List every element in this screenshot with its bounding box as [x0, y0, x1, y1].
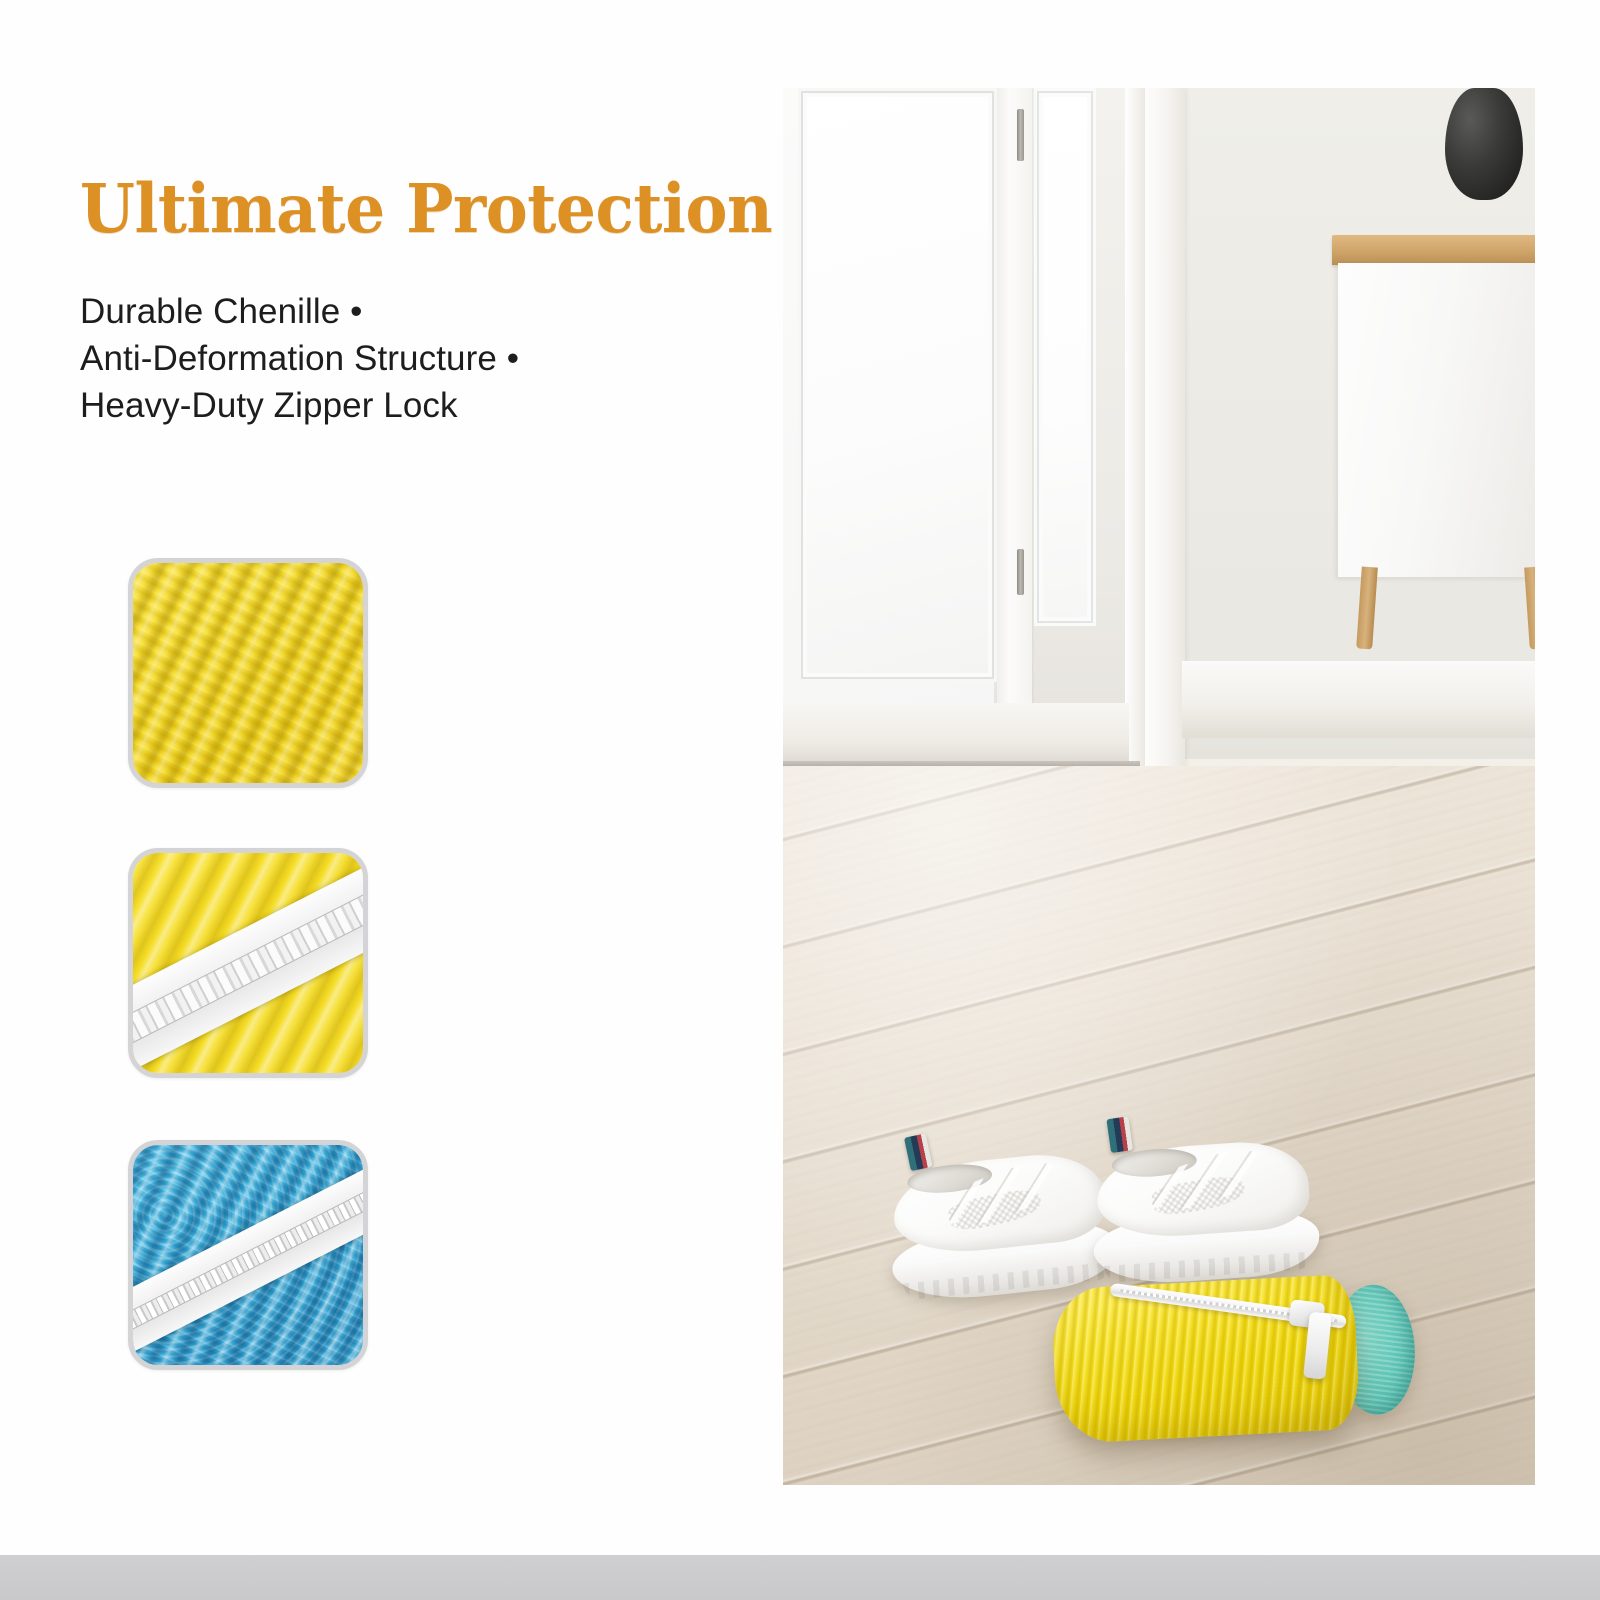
page-title: Ultimate Protection — [80, 175, 729, 242]
swatch-yellow-chenille-texture — [128, 558, 368, 788]
footer-band — [0, 1555, 1600, 1600]
baseboard — [1182, 661, 1535, 738]
swatch-yellow-chenille-zipper — [128, 848, 368, 1078]
feature-list: Durable Chenille • Anti-Deformation Stru… — [80, 288, 770, 429]
sneaker-upper — [1094, 1137, 1312, 1241]
frosted-glass-panel-narrow — [1034, 88, 1096, 626]
door-hinge-icon — [1017, 109, 1024, 161]
chenille-yellow-pattern — [133, 563, 363, 783]
cabinet-wood-top — [1332, 235, 1535, 266]
door-bottom-rail — [783, 703, 1129, 766]
swatch-image — [133, 1145, 363, 1365]
product-infographic: Ultimate Protection Durable Chenille • A… — [0, 0, 1600, 1600]
door-casing — [1145, 88, 1184, 793]
sneaker-heel-tab — [1106, 1116, 1133, 1153]
sideboard-cabinet — [1338, 263, 1535, 577]
door-hinge-icon — [1017, 549, 1024, 595]
frosted-glass-panel-large — [798, 88, 997, 682]
yellow-shoe-wash-bag — [1050, 1271, 1419, 1444]
copy-block: Ultimate Protection Durable Chenille • A… — [80, 175, 770, 429]
feature-item-1: Durable Chenille • — [80, 288, 770, 335]
swatch-image — [133, 563, 363, 783]
feature-item-2: Anti-Deformation Structure • — [80, 335, 770, 382]
entryway-lifestyle-photo — [783, 88, 1535, 1485]
wood-floor — [783, 766, 1535, 1485]
ceramic-vase — [1445, 88, 1523, 200]
feature-item-3: Heavy-Duty Zipper Lock — [80, 382, 770, 429]
swatch-blue-chenille-zipper — [128, 1140, 368, 1370]
white-sneaker-left — [881, 1139, 1120, 1306]
door-stile — [997, 88, 1032, 766]
swatch-image — [133, 853, 363, 1073]
white-sneaker-right — [1087, 1128, 1322, 1287]
